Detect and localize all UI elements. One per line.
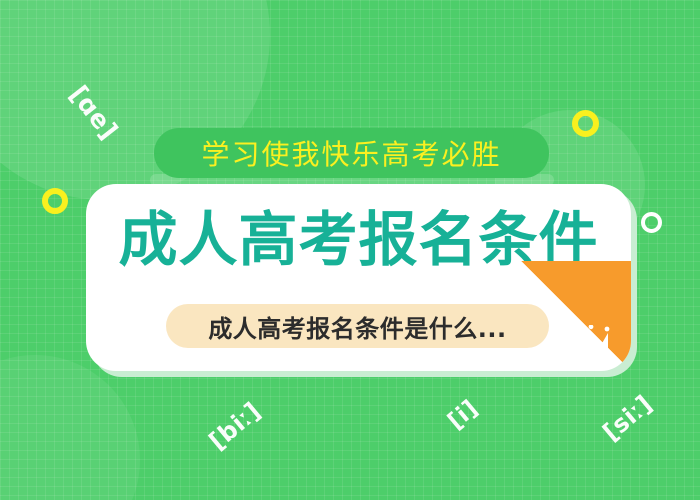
ring-yellow-right bbox=[572, 110, 599, 137]
ring-white-right bbox=[641, 212, 662, 233]
poster-canvas: [ɑe] [biː] [i] [siː] 学习使我快乐高考必胜 成人高考报名条件… bbox=[0, 0, 700, 500]
subtitle-pill: 成人高考报名条件是什么... bbox=[166, 304, 549, 348]
phonetic-label-i: [i] bbox=[443, 395, 483, 434]
crown-icon bbox=[571, 325, 611, 357]
ring-yellow-left bbox=[42, 188, 68, 214]
phonetic-label-bi: [biː] bbox=[204, 397, 266, 456]
subtitle-text: 成人高考报名条件是什么... bbox=[208, 309, 506, 344]
top-banner-text: 学习使我快乐高考必胜 bbox=[201, 133, 501, 173]
main-card: 成人高考报名条件 成人高考报名条件是什么... bbox=[86, 184, 631, 371]
top-banner: 学习使我快乐高考必胜 bbox=[154, 128, 549, 178]
phonetic-label-ae: [ɑe] bbox=[64, 80, 124, 145]
phonetic-label-si: [siː] bbox=[597, 390, 657, 447]
